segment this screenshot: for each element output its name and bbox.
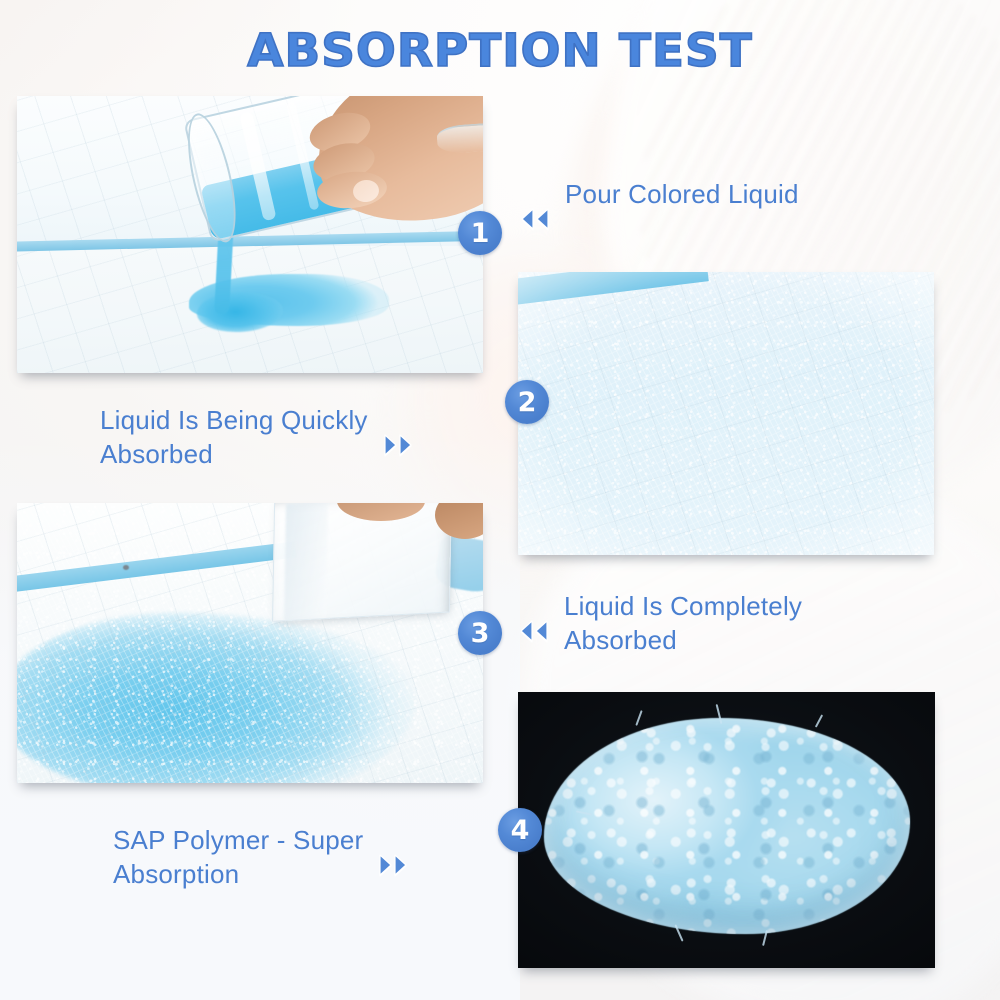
infographic-canvas: ABSORPTION TEST	[0, 0, 1000, 1000]
page-title: ABSORPTION TEST	[0, 24, 1000, 77]
step-caption-2: Liquid Is Being Quickly Absorbed	[100, 404, 416, 482]
step-caption-3: Liquid Is Completely Absorbed	[516, 590, 802, 668]
step-caption-1-text: Pour Colored Liquid	[565, 178, 799, 212]
step-caption-4: SAP Polymer - Super Absorption	[113, 824, 411, 902]
photo-sap-polymer-gel	[518, 692, 935, 968]
step-caption-1: Pour Colored Liquid	[517, 178, 799, 256]
tissue-fold	[284, 503, 328, 622]
step-caption-2-text: Liquid Is Being Quickly Absorbed	[100, 404, 368, 472]
step-caption-3-text: Liquid Is Completely Absorbed	[564, 590, 802, 658]
step-caption-4-text: SAP Polymer - Super Absorption	[113, 824, 363, 892]
step-badge-4: 4	[498, 808, 542, 852]
photo-tissue-dryness-test	[17, 503, 483, 783]
double-chevron-right-icon	[377, 828, 411, 902]
photo-liquid-absorbing	[518, 272, 934, 555]
step-badge-3: 3	[458, 611, 502, 655]
double-chevron-right-icon	[382, 408, 416, 482]
double-chevron-left-icon	[516, 594, 550, 668]
step-badge-2: 2	[505, 380, 549, 424]
photo-vignette	[518, 272, 934, 555]
surface-speck	[123, 565, 129, 570]
step-badge-1: 1	[458, 211, 502, 255]
sap-gel-edge-shading	[544, 718, 910, 934]
double-chevron-left-icon	[517, 182, 551, 256]
photo-pouring-colored-liquid	[17, 96, 483, 373]
